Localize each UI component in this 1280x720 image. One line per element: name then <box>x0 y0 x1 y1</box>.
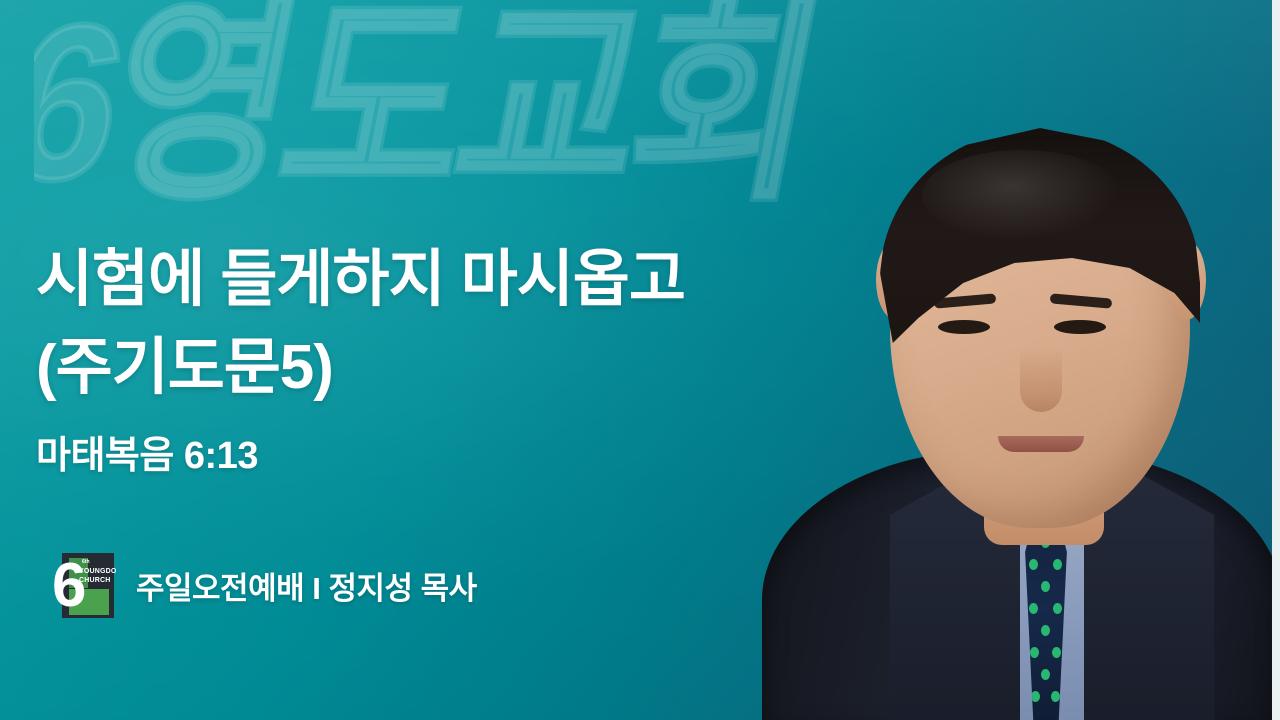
right-edge-strip <box>1272 0 1280 720</box>
portrait-hair-highlight <box>922 150 1122 240</box>
sermon-title-line-2: (주기도문5) <box>36 324 916 412</box>
service-and-speaker-label: 주일오전예배 I 정지성 목사 <box>136 563 477 608</box>
portrait-mouth <box>998 436 1084 452</box>
portrait-eye-left <box>938 320 990 334</box>
portrait-nose <box>1020 348 1062 412</box>
logo-name-line-1: YOUNGDO <box>79 567 117 576</box>
sermon-title-line-1: 시험에 들게하지 마시옵고 <box>36 236 916 324</box>
portrait-eye-right <box>1054 320 1106 334</box>
logo-church-name: YOUNGDO CHURCH <box>79 567 117 585</box>
logo-name-line-2: CHURCH <box>79 576 117 585</box>
footer-row: 6 6th YOUNGDO CHURCH 주일오전예배 I 정지성 목사 <box>56 553 477 618</box>
thumbnail-canvas: 6영도교회 <box>0 0 1280 720</box>
logo-superscript: 6th <box>82 559 90 566</box>
sermon-title-block: 시험에 들게하지 마시옵고 (주기도문5) 마태복음 6:13 <box>36 236 916 480</box>
church-logo: 6 6th YOUNGDO CHURCH <box>56 553 114 618</box>
logo-numeral-six: 6 <box>52 555 84 617</box>
scripture-reference: 마태복음 6:13 <box>36 432 916 480</box>
